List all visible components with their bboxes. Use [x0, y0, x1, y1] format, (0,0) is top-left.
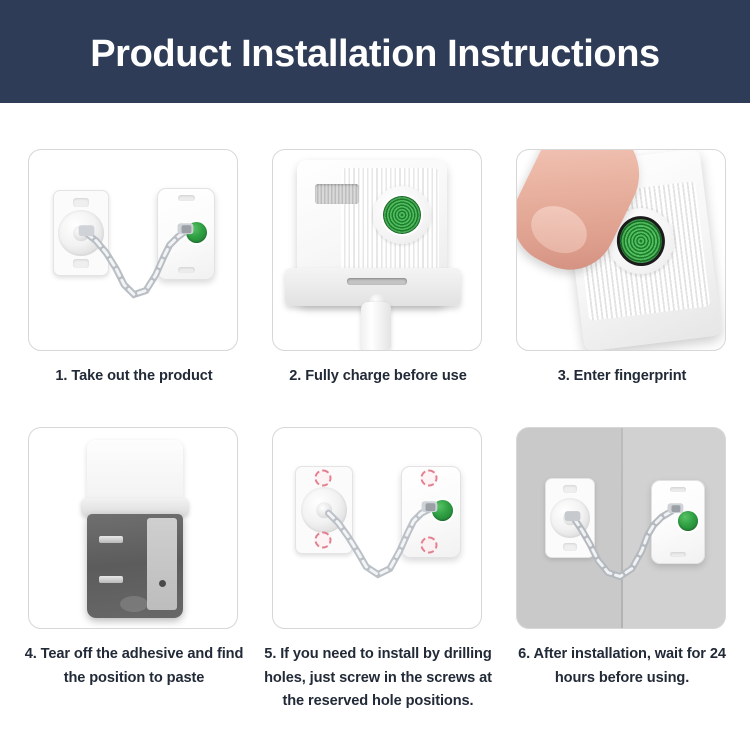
step-2: 2. Fully charge before use: [272, 149, 484, 389]
screw-hole: [159, 580, 166, 587]
installed-on-door-artwork: [517, 428, 725, 628]
adhesive-pad: [87, 514, 183, 618]
step-3-image: [516, 149, 726, 351]
step-3: 3. Enter fingerprint: [516, 149, 728, 389]
step-1: 1. Take out the product: [28, 149, 240, 389]
fingerprint-sensor: [383, 196, 421, 234]
step-6: 6. After installation, wait for 24 hours…: [516, 427, 728, 690]
lock-base: [285, 268, 461, 306]
step-1-caption: 1. Take out the product: [28, 365, 240, 389]
step-2-caption: 2. Fully charge before use: [272, 365, 484, 389]
product-laid-out-artwork: [29, 150, 237, 350]
step-5-caption: 5. If you need to install by drilling ho…: [264, 643, 492, 714]
step-1-image: [28, 149, 238, 351]
chain-link-graphic: [29, 150, 237, 350]
back-circle-detail: [120, 596, 148, 612]
step-4-image: [28, 427, 238, 629]
step-5-image: [272, 427, 482, 629]
step-5: 5. If you need to install by drilling ho…: [272, 427, 484, 714]
step-3-caption: 3. Enter fingerprint: [516, 365, 728, 389]
fingerprint-ring: [373, 186, 431, 244]
step-6-caption: 6. After installation, wait for 24 hours…: [508, 643, 736, 690]
step-2-image: [272, 149, 482, 351]
screw-upper: [99, 536, 123, 543]
page-title: Product Installation Instructions: [90, 31, 660, 73]
chain-link-graphic: [273, 428, 481, 628]
step-4: 4. Tear off the adhesive and find the po…: [28, 427, 240, 690]
mounting-strip: [147, 518, 177, 610]
fingerprint-enroll-artwork: [517, 150, 725, 350]
adhesive-back-artwork: [29, 428, 237, 628]
usb-charging-cable: [361, 302, 391, 350]
chain-link-graphic: [517, 428, 725, 628]
step-6-image: [516, 427, 726, 629]
charging-artwork: [273, 150, 481, 350]
screw-holes-artwork: [273, 428, 481, 628]
charging-slot: [347, 278, 407, 285]
fingernail: [523, 197, 594, 262]
fingerprint-sensor: [617, 217, 664, 266]
screw-lower: [99, 576, 123, 583]
steps-grid: 1. Take out the product: [0, 103, 750, 750]
battery-contact-port: [315, 184, 359, 204]
infographic-page: Product Installation Instructions: [0, 0, 750, 750]
header-banner: Product Installation Instructions: [0, 0, 750, 103]
step-4-caption: 4. Tear off the adhesive and find the po…: [20, 643, 248, 690]
